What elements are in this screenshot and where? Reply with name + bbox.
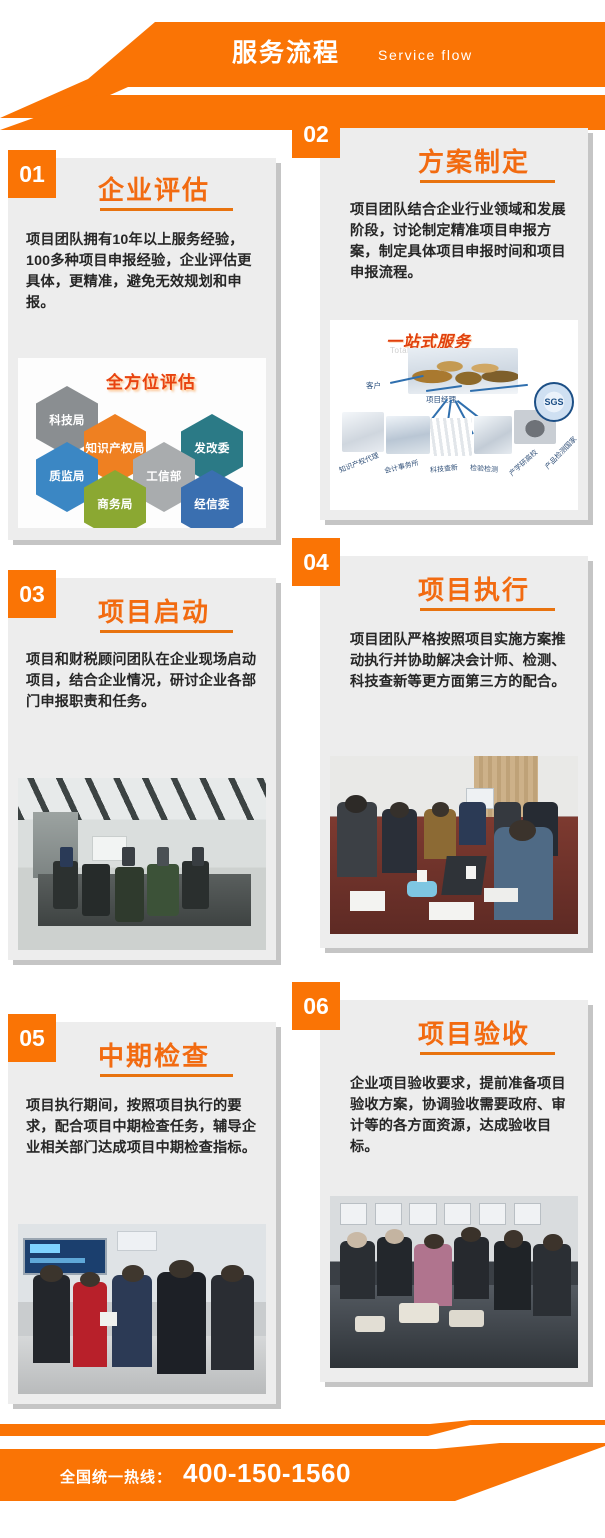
step-number-badge: 01 [8,150,56,198]
page-title: 服务流程 [232,38,340,68]
one-stop-service-graphic: 一站式服务 Total Solution Services 客户 项目经理 SG… [330,320,578,510]
hexagon-graphic-title: 全方位评估 [106,368,196,393]
step-number-badge: 05 [8,1014,56,1062]
step-number-badge: 03 [8,570,56,618]
step-card-02: 02 方案制定 项目团队结合企业行业领域和发展阶段，讨论制定精准项目申报方案，制… [320,128,588,520]
page-subtitle: Service flow [378,45,473,65]
hotline-label: 全国统一热线： [60,1466,172,1487]
card-title: 中期检查 [98,1036,210,1073]
office-thumbnail [386,416,430,454]
card-description: 项目和财税顾问团队在企业现场启动项目，结合企业情况，研讨企业各部门申报职责和任务… [26,650,258,713]
title-underline [100,630,233,633]
lab-thumbnail [474,416,512,454]
acceptance-meeting-photo [330,1196,578,1368]
documents-thumbnail [430,418,472,456]
one-stop-bottom-label: 产学研高校 [507,448,540,479]
card-title: 企业评估 [98,170,210,207]
step-card-04: 04 项目执行 项目团队严格按照项目实施方案推动执行并协助解决会计师、检测、科技… [320,556,588,948]
team-working-at-table-photo [330,756,578,934]
title-underline [420,1052,555,1055]
title-underline [420,180,555,183]
site-visit-inspection-photo [18,1224,266,1394]
title-underline [100,1074,233,1077]
card-title: 方案制定 [418,142,530,179]
card-description: 项目团队结合企业行业领域和发展阶段，讨论制定精准项目申报方案，制定具体项目申报时… [350,200,572,284]
card-description: 企业项目验收要求，提前准备项目验收方案，协调验收需要政府、审计等的各方面资源，达… [350,1074,572,1158]
step-number-badge: 06 [292,982,340,1030]
card-title: 项目启动 [98,592,210,629]
certification-seal-icon: SGS [534,382,574,422]
title-underline [100,208,233,211]
conference-room-meeting-photo [18,778,266,950]
hexagon-evaluation-graphic: 全方位评估 科技局 知识产权局 发改委 质监局 工信部 商务局 经信委 [18,358,266,528]
one-stop-bottom-label: 会计事务所 [383,458,419,476]
one-stop-bottom-label: 知识产权代理 [338,450,381,475]
one-stop-bottom-label: 科技查新 [430,463,459,476]
step-number-badge: 02 [292,110,340,158]
title-underline [420,608,555,611]
step-number-badge: 04 [292,538,340,586]
card-description: 项目执行期间，按照项目执行的要求，配合项目中期检查任务，辅导企业相关部门达成项目… [26,1096,258,1159]
card-title: 项目执行 [418,570,530,607]
card-title: 项目验收 [418,1014,530,1051]
step-card-05: 05 中期检查 项目执行期间，按照项目执行的要求，配合项目中期检查任务，辅导企业… [8,1022,276,1404]
card-description: 项目团队拥有10年以上服务经验，100多种项目申报经验，企业评估更具体，更精准，… [26,230,258,314]
step-card-01: 01 企业评估 项目团队拥有10年以上服务经验，100多种项目申报经验，企业评估… [8,158,276,540]
one-stop-label-customer: 客户 [366,380,381,391]
card-description: 项目团队严格按照项目实施方案推动执行并协助解决会计师、检测、科技查新等更方面第三… [350,630,572,693]
step-card-06: 06 项目验收 企业项目验收要求，提前准备项目验收方案，协调验收需要政府、审计等… [320,1000,588,1382]
footer-thin-stripe [0,1420,605,1442]
one-stop-bottom-label: 检验检测 [470,463,499,475]
hotline-number[interactable]: 400-150-1560 [183,1458,351,1489]
step-card-03: 03 项目启动 项目和财税顾问团队在企业现场启动项目，结合企业情况，研讨企业各部… [8,578,276,960]
page-footer: 全国统一热线： 400-150-1560 [0,1420,605,1538]
books-thumbnail [342,412,384,452]
